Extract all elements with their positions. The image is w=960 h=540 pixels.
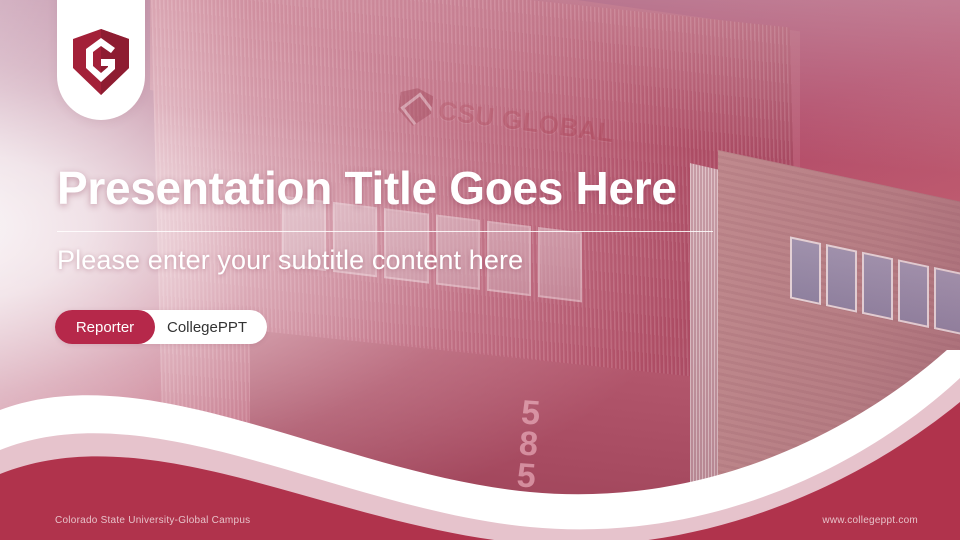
presenter-role-badge: Reporter — [55, 310, 155, 344]
title-slide: CSU GLOBAL 585 Presentation Title Goes H… — [0, 0, 960, 540]
presenter-name: CollegePPT — [167, 319, 247, 336]
footer-website[interactable]: www.collegeppt.com — [822, 515, 918, 526]
page-title: Presentation Title Goes Here — [57, 163, 817, 214]
presenter-byline[interactable]: Reporter CollegePPT — [55, 310, 267, 344]
logo-badge — [57, 0, 145, 120]
csu-global-shield-icon — [70, 28, 132, 98]
footer-institution: Colorado State University-Global Campus — [55, 515, 250, 526]
page-subtitle: Please enter your subtitle content here — [57, 245, 523, 276]
title-divider-rule — [57, 231, 713, 232]
wave-footer-decoration — [0, 350, 960, 540]
